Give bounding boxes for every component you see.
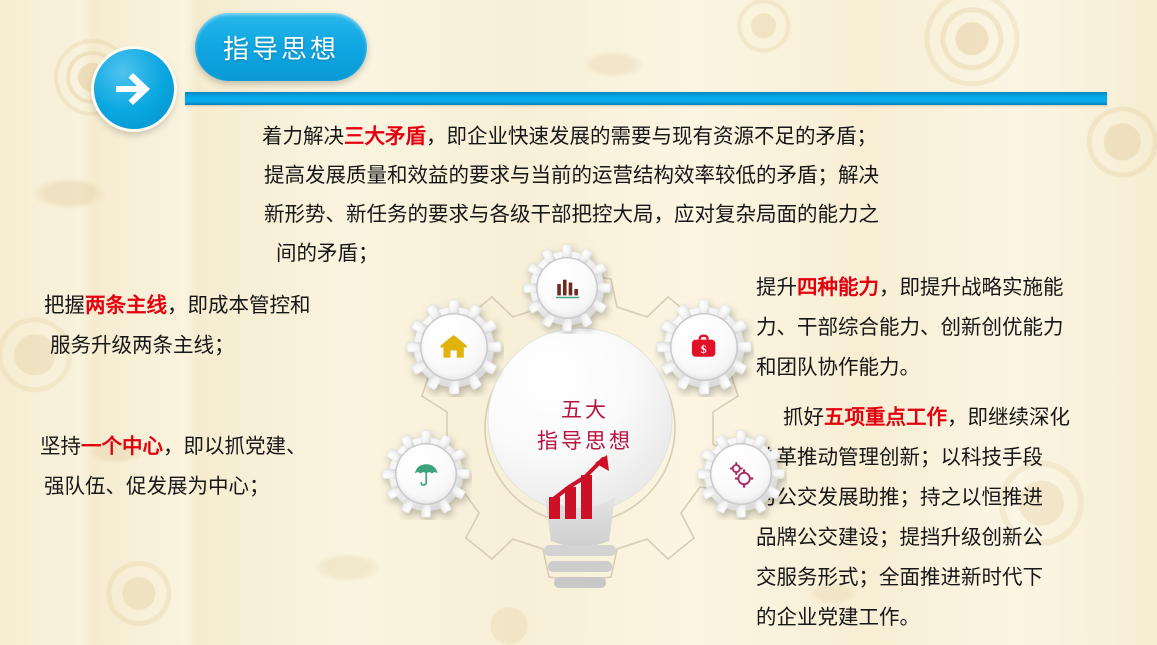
text-run: ，即企业快速发展的需要与现有资源不足的矛盾； [426, 125, 877, 148]
umbrella-icon [412, 460, 441, 489]
text-run: 提高发展质量和效益的要求与当前的运营结构效率较低的矛盾；解决 [264, 164, 879, 187]
gear-disc [395, 443, 457, 505]
text-run: 品牌公交建设；提挡升级创新公 [756, 526, 1043, 549]
highlight-run: 四种能力 [797, 276, 879, 299]
text-run: 为公交发展助推；持之以恒推进 [756, 486, 1043, 509]
highlight-run: 一个中心 [81, 435, 163, 458]
paragraph-top-line-1: 着力解决三大矛盾，即企业快速发展的需要与现有资源不足的矛盾； [262, 117, 879, 156]
arrow-right-icon[interactable] [94, 49, 174, 129]
highlight-run: 两条主线 [85, 294, 167, 317]
growth-bar-chart-arrow-icon [545, 455, 617, 521]
paragraph-left-one-line-2: 服务升级两条主线； [44, 326, 311, 366]
gear-node-briefcase[interactable]: $ [654, 297, 754, 397]
paragraph-top-line-3: 新形势、新任务的要求与各级干部把控大局，应对复杂局面的能力之 [262, 195, 879, 234]
highlight-run: 三大矛盾 [344, 125, 426, 148]
gears-icon [727, 460, 756, 489]
text-run: 和团队协作能力。 [756, 356, 920, 379]
text-run: 间的矛盾； [276, 242, 379, 265]
svg-text:$: $ [701, 343, 707, 356]
house-icon [438, 331, 469, 362]
paragraph-right-two-line-4: 品牌公交建设；提挡升级创新公 [756, 518, 1070, 558]
text-run: 坚持 [40, 435, 81, 458]
gear-node-chart[interactable] [521, 242, 613, 334]
text-run: 交服务形式；全面推进新时代下 [756, 566, 1043, 589]
text-run: ，即以抓党建、 [163, 435, 307, 458]
paragraph-right-two-line-6: 的企业党建工作。 [756, 598, 1070, 638]
gear-disc [536, 257, 598, 319]
text-run: 着力解决 [262, 125, 344, 148]
gear-node-gears[interactable] [695, 428, 787, 520]
gear-disc [420, 313, 488, 381]
paragraph-right-two-line-2: 改革推动管理创新；以科技手段 [756, 438, 1070, 478]
text-run: 把握 [44, 294, 85, 317]
section-title-badge: 指导思想 [195, 13, 367, 81]
paragraph-left-two-line-1: 坚持一个中心，即以抓党建、 [40, 427, 307, 467]
text-run: 的企业党建工作。 [756, 606, 920, 629]
briefcase-dollar-icon: $ [688, 331, 719, 362]
paragraph-left-one-line-1: 把握两条主线，即成本管控和 [44, 286, 311, 326]
gear-disc [710, 443, 772, 505]
bar-chart-icon [553, 274, 582, 303]
paragraph-right-four-abilities: 提升四种能力，即提升战略实施能力、干部综合能力、创新创优能力和团队协作能力。 [756, 268, 1064, 388]
section-title-text: 指导思想 [223, 29, 339, 66]
text-run: ，即继续深化 [947, 406, 1070, 429]
text-run: 力、干部综合能力、创新创优能力 [756, 316, 1064, 339]
text-run: 服务升级两条主线； [50, 334, 235, 357]
highlight-run: 五项重点工作 [824, 406, 947, 429]
text-run: 提升 [756, 276, 797, 299]
text-run: ，即成本管控和 [167, 294, 311, 317]
gear-node-home[interactable] [404, 297, 504, 397]
paragraph-left-one-center: 坚持一个中心，即以抓党建、强队伍、促发展为中心； [40, 427, 307, 507]
paragraph-right-one-line-2: 力、干部综合能力、创新创优能力 [756, 308, 1064, 348]
paragraph-left-two-line-2: 强队伍、促发展为中心； [40, 467, 307, 507]
paragraph-right-two-line-5: 交服务形式；全面推进新时代下 [756, 558, 1070, 598]
text-run: 强队伍、促发展为中心； [44, 475, 270, 498]
paragraph-right-one-line-3: 和团队协作能力。 [756, 348, 1064, 388]
text-run: 抓好 [783, 406, 824, 429]
text-run: 新形势、新任务的要求与各级干部把控大局，应对复杂局面的能力之 [264, 203, 879, 226]
paragraph-right-one-line-1: 提升四种能力，即提升战略实施能 [756, 268, 1064, 308]
paragraph-right-two-line-3: 为公交发展助推；持之以恒推进 [756, 478, 1070, 518]
paragraph-right-five-key-works: 抓好五项重点工作，即继续深化改革推动管理创新；以科技手段为公交发展助推；持之以恒… [783, 398, 1070, 638]
paragraph-right-two-line-1: 抓好五项重点工作，即继续深化 [783, 398, 1070, 438]
text-run: ，即提升战略实施能 [879, 276, 1064, 299]
text-run: 改革推动管理创新；以科技手段 [756, 446, 1043, 469]
gear-node-umbrella[interactable] [380, 428, 472, 520]
header-divider-bar [185, 92, 1107, 105]
paragraph-top-line-2: 提高发展质量和效益的要求与当前的运营结构效率较低的矛盾；解决 [262, 156, 879, 195]
paragraph-left-one-main-line: 把握两条主线，即成本管控和服务升级两条主线； [44, 286, 311, 366]
gear-disc: $ [670, 313, 738, 381]
